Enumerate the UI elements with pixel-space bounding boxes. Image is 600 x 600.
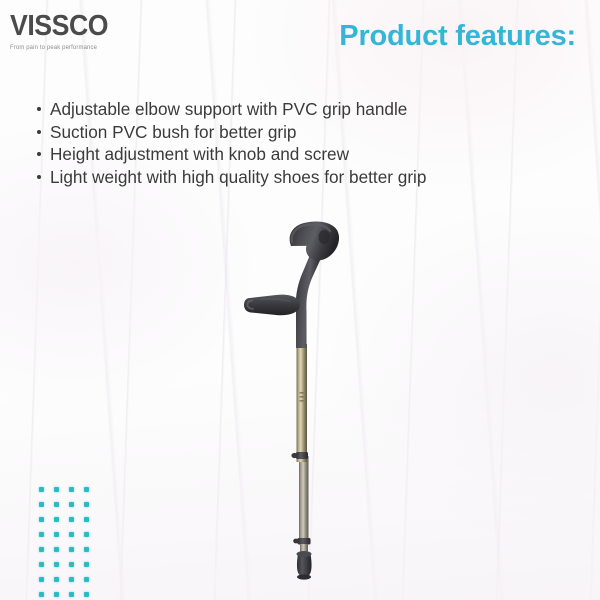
bullet-icon <box>37 152 41 156</box>
grid-dot <box>54 502 59 507</box>
product-image-elbow-crutch <box>236 216 376 584</box>
grid-dot <box>84 592 89 597</box>
grid-dot <box>54 532 59 537</box>
elbow-crutch-illustration <box>236 216 376 584</box>
list-item: Adjustable elbow support with PVC grip h… <box>36 98 582 121</box>
grid-dot <box>54 547 59 552</box>
grid-dot <box>84 562 89 567</box>
feature-text: Light weight with high quality shoes for… <box>50 167 426 187</box>
bullet-icon <box>37 130 41 134</box>
shaft-brand-mark <box>300 392 304 402</box>
bullet-icon <box>37 175 41 179</box>
grid-dot <box>84 502 89 507</box>
grid-dot <box>84 577 89 582</box>
slide-canvas: VISSCO From pain to peak performance Pro… <box>0 0 600 600</box>
grid-dot <box>84 547 89 552</box>
grid-dot <box>69 487 74 492</box>
feature-list: Adjustable elbow support with PVC grip h… <box>36 98 582 188</box>
grid-dot <box>54 592 59 597</box>
pvc-grip-handle <box>244 295 300 316</box>
grid-dot <box>69 562 74 567</box>
grid-dot <box>69 592 74 597</box>
upper-shaft <box>297 344 308 462</box>
grid-dot <box>69 517 74 522</box>
cuff-stem <box>296 250 322 348</box>
list-item: Light weight with high quality shoes for… <box>36 166 582 189</box>
cuff-inner-shadow <box>319 230 330 244</box>
teal-dot-grid <box>39 487 99 600</box>
grid-dot <box>39 487 44 492</box>
rubber-shoe-tip <box>297 554 312 578</box>
logo-wordmark: VISSCO <box>10 12 176 41</box>
grid-dot <box>39 517 44 522</box>
shoe-base <box>297 574 311 579</box>
grid-dot <box>39 502 44 507</box>
grid-dot <box>54 562 59 567</box>
lower-shaft <box>299 456 309 544</box>
grid-dot <box>69 577 74 582</box>
grid-dot <box>39 547 44 552</box>
grid-dot <box>54 577 59 582</box>
feature-text: Height adjustment with knob and screw <box>50 144 349 164</box>
grid-dot <box>84 532 89 537</box>
list-item: Suction PVC bush for better grip <box>36 121 582 144</box>
grid-dot <box>69 532 74 537</box>
grid-dot <box>84 487 89 492</box>
grid-dot <box>39 562 44 567</box>
page-title: Product features: <box>339 20 576 53</box>
suction-pvc-bush <box>298 538 311 545</box>
bush-knob <box>293 539 299 544</box>
elbow-cuff <box>290 221 339 260</box>
list-item: Height adjustment with knob and screw <box>36 143 582 166</box>
bullet-icon <box>37 107 41 111</box>
grid-dot <box>54 487 59 492</box>
shoe-collar <box>297 551 312 557</box>
grid-dot <box>39 592 44 597</box>
feature-text: Adjustable elbow support with PVC grip h… <box>50 99 407 119</box>
feature-text: Suction PVC bush for better grip <box>50 122 296 142</box>
logo-tagline: From pain to peak performance <box>10 44 183 51</box>
brand-logo: VISSCO From pain to peak performance <box>10 12 190 51</box>
grid-dot <box>39 577 44 582</box>
grid-dot <box>69 547 74 552</box>
grid-dot <box>39 532 44 537</box>
adjustment-knob <box>291 453 297 458</box>
grid-dot <box>84 517 89 522</box>
grid-dot <box>69 502 74 507</box>
grid-dot <box>54 517 59 522</box>
